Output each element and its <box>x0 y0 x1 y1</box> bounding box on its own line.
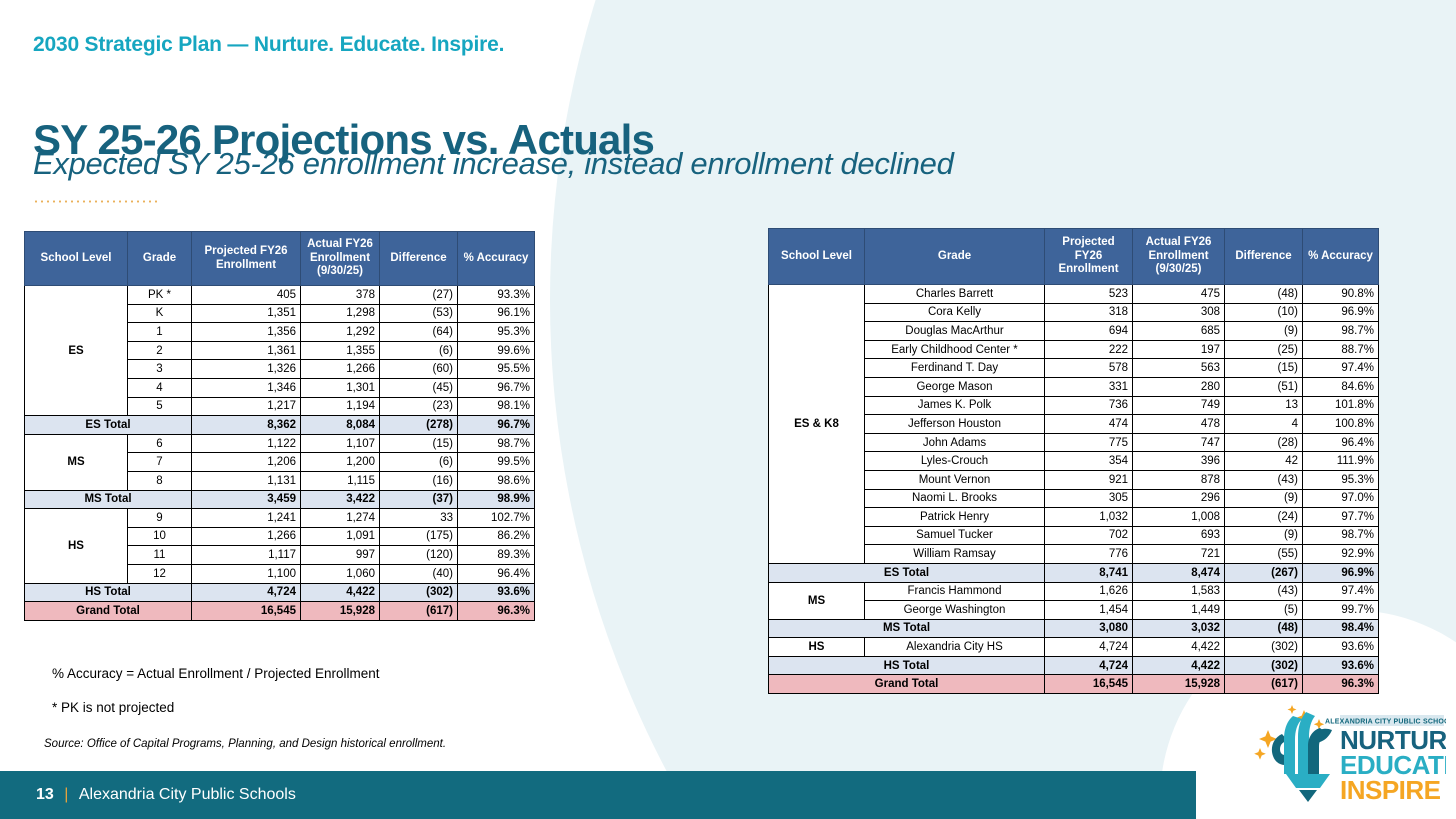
subtotal-difference: (302) <box>1225 656 1303 675</box>
actual-cell: 478 <box>1133 415 1225 434</box>
accuracy-cell: 96.1% <box>458 304 535 323</box>
acps-nurture-educate-inspire-logo: ALEXANDRIA CITY PUBLIC SCHOOLS NURTURE E… <box>1246 700 1446 808</box>
pencil-leaf-mark <box>1272 712 1332 802</box>
col-difference: Difference <box>380 232 458 286</box>
grand-total-actual: 15,928 <box>301 602 380 621</box>
actual-cell: 308 <box>1133 303 1225 322</box>
projected-cell: 1,241 <box>192 509 301 528</box>
grade-cell: Naomi L. Brooks <box>865 489 1045 508</box>
grade-cell: Samuel Tucker <box>865 526 1045 545</box>
difference-cell: (16) <box>380 471 458 490</box>
actual-cell: 685 <box>1133 322 1225 341</box>
difference-cell: (9) <box>1225 489 1303 508</box>
subtotal-label: ES Total <box>769 563 1045 582</box>
actual-cell: 1,107 <box>301 434 380 453</box>
subtotal-difference: (37) <box>380 490 458 509</box>
col-projected: Projected FY26 Enrollment <box>1045 229 1133 285</box>
subtotal-label: MS Total <box>769 619 1045 638</box>
projected-cell: 1,454 <box>1045 601 1133 620</box>
actual-cell: 1,091 <box>301 527 380 546</box>
strategic-plan-eyebrow: 2030 Strategic Plan — Nurture. Educate. … <box>33 33 504 57</box>
projected-cell: 354 <box>1045 452 1133 471</box>
actual-cell: 1,301 <box>301 378 380 397</box>
col-grade: Grade <box>865 229 1045 285</box>
difference-cell: (25) <box>1225 340 1303 359</box>
logo-line-inspire: INSPIRE <box>1340 775 1441 805</box>
projected-cell: 578 <box>1045 359 1133 378</box>
level-cell: HS <box>25 509 128 583</box>
col-projected: Projected FY26 Enrollment <box>192 232 301 286</box>
subtotal-projected: 4,724 <box>192 583 301 602</box>
actual-cell: 749 <box>1133 396 1225 415</box>
projected-cell: 1,326 <box>192 360 301 379</box>
difference-cell: (6) <box>380 453 458 472</box>
difference-cell: (10) <box>1225 303 1303 322</box>
actual-cell: 378 <box>301 286 380 305</box>
subtotal-actual: 8,084 <box>301 416 380 435</box>
grand-total-difference: (617) <box>1225 675 1303 694</box>
subtotal-actual: 4,422 <box>301 583 380 602</box>
accuracy-cell: 89.3% <box>458 546 535 565</box>
projected-cell: 1,131 <box>192 471 301 490</box>
col-school-level: School Level <box>769 229 865 285</box>
projected-cell: 523 <box>1045 285 1133 304</box>
difference-cell: (48) <box>1225 285 1303 304</box>
difference-cell: (6) <box>380 341 458 360</box>
projected-cell: 1,266 <box>192 527 301 546</box>
level-cell: MS <box>769 582 865 619</box>
grand-total-row: Grand Total16,54515,928(617)96.3% <box>769 675 1379 694</box>
grade-cell: George Washington <box>865 601 1045 620</box>
subtotal-difference: (302) <box>380 583 458 602</box>
grade-cell: 8 <box>128 471 192 490</box>
subtotal-label: ES Total <box>25 416 192 435</box>
accuracy-cell: 111.9% <box>1303 452 1379 471</box>
projected-cell: 694 <box>1045 322 1133 341</box>
col-difference: Difference <box>1225 229 1303 285</box>
difference-cell: (5) <box>1225 601 1303 620</box>
subtotal-actual: 4,422 <box>1133 656 1225 675</box>
actual-cell: 1,449 <box>1133 601 1225 620</box>
actual-cell: 1,583 <box>1133 582 1225 601</box>
grade-cell: 7 <box>128 453 192 472</box>
accuracy-cell: 93.3% <box>458 286 535 305</box>
subtotal-label: MS Total <box>25 490 192 509</box>
accuracy-cell: 96.7% <box>458 378 535 397</box>
projected-cell: 1,100 <box>192 564 301 583</box>
subtotal-difference: (48) <box>1225 619 1303 638</box>
actual-cell: 296 <box>1133 489 1225 508</box>
accuracy-cell: 93.6% <box>1303 638 1379 657</box>
grand-total-label: Grand Total <box>25 602 192 621</box>
grade-cell: 5 <box>128 397 192 416</box>
difference-cell: (43) <box>1225 582 1303 601</box>
difference-cell: 4 <box>1225 415 1303 434</box>
accuracy-cell: 99.5% <box>458 453 535 472</box>
level-cell: HS <box>769 638 865 657</box>
projected-cell: 1,626 <box>1045 582 1133 601</box>
difference-cell: (15) <box>380 434 458 453</box>
grade-cell: James K. Polk <box>865 396 1045 415</box>
subtotal-row: MS Total3,4593,422(37)98.9% <box>25 490 535 509</box>
grade-cell: Francis Hammond <box>865 582 1045 601</box>
projected-cell: 305 <box>1045 489 1133 508</box>
actual-cell: 4,422 <box>1133 638 1225 657</box>
accuracy-cell: 101.8% <box>1303 396 1379 415</box>
grade-cell: 11 <box>128 546 192 565</box>
grade-cell: Douglas MacArthur <box>865 322 1045 341</box>
col-accuracy: % Accuracy <box>458 232 535 286</box>
subtotal-difference: (267) <box>1225 563 1303 582</box>
table-row: HSAlexandria City HS4,7244,422(302)93.6% <box>769 638 1379 657</box>
accuracy-cell: 98.7% <box>1303 322 1379 341</box>
projected-cell: 331 <box>1045 377 1133 396</box>
difference-cell: (120) <box>380 546 458 565</box>
table-header-row: School Level Grade Projected FY26 Enroll… <box>25 232 535 286</box>
actual-cell: 878 <box>1133 470 1225 489</box>
grade-cell: K <box>128 304 192 323</box>
actual-cell: 563 <box>1133 359 1225 378</box>
actual-cell: 1,200 <box>301 453 380 472</box>
subtotal-accuracy: 98.9% <box>458 490 535 509</box>
actual-cell: 747 <box>1133 433 1225 452</box>
projected-cell: 405 <box>192 286 301 305</box>
subtotal-row: HS Total4,7244,422(302)93.6% <box>25 583 535 602</box>
grand-total-row: Grand Total16,54515,928(617)96.3% <box>25 602 535 621</box>
difference-cell: (28) <box>1225 433 1303 452</box>
subtotal-label: HS Total <box>25 583 192 602</box>
subtotal-difference: (278) <box>380 416 458 435</box>
table-row: ESPK *405378(27)93.3% <box>25 286 535 305</box>
difference-cell: 33 <box>380 509 458 528</box>
actual-cell: 721 <box>1133 545 1225 564</box>
subtotal-projected: 4,724 <box>1045 656 1133 675</box>
actual-cell: 280 <box>1133 377 1225 396</box>
table-right-body: ES & K8Charles Barrett523475(48)90.8%Cor… <box>769 285 1379 694</box>
projected-cell: 1,032 <box>1045 508 1133 527</box>
projected-cell: 736 <box>1045 396 1133 415</box>
page-number: 13 <box>36 786 54 803</box>
accuracy-cell: 92.9% <box>1303 545 1379 564</box>
subtotal-actual: 8,474 <box>1133 563 1225 582</box>
col-grade: Grade <box>128 232 192 286</box>
difference-cell: (27) <box>380 286 458 305</box>
difference-cell: (60) <box>380 360 458 379</box>
difference-cell: (51) <box>1225 377 1303 396</box>
actual-cell: 1,355 <box>301 341 380 360</box>
actual-cell: 997 <box>301 546 380 565</box>
table-left-body: ESPK *405378(27)93.3%K1,3511,298(53)96.1… <box>25 286 535 621</box>
grade-cell: Lyles-Crouch <box>865 452 1045 471</box>
difference-cell: (23) <box>380 397 458 416</box>
grade-cell: 4 <box>128 378 192 397</box>
col-accuracy: % Accuracy <box>1303 229 1379 285</box>
grade-cell: 10 <box>128 527 192 546</box>
subtotal-accuracy: 93.6% <box>458 583 535 602</box>
accuracy-cell: 86.2% <box>458 527 535 546</box>
actual-cell: 1,266 <box>301 360 380 379</box>
actual-cell: 475 <box>1133 285 1225 304</box>
grade-cell: George Mason <box>865 377 1045 396</box>
grade-cell: PK * <box>128 286 192 305</box>
actual-cell: 1,292 <box>301 323 380 342</box>
projected-cell: 474 <box>1045 415 1133 434</box>
subtotal-accuracy: 96.7% <box>458 416 535 435</box>
difference-cell: (45) <box>380 378 458 397</box>
difference-cell: (175) <box>380 527 458 546</box>
accuracy-cell: 98.6% <box>458 471 535 490</box>
accuracy-cell: 98.1% <box>458 397 535 416</box>
projections-by-school-table: School Level Grade Projected FY26 Enroll… <box>768 228 1379 694</box>
accuracy-cell: 99.6% <box>458 341 535 360</box>
grade-cell: 2 <box>128 341 192 360</box>
grade-cell: John Adams <box>865 433 1045 452</box>
accuracy-cell: 95.3% <box>458 323 535 342</box>
projected-cell: 776 <box>1045 545 1133 564</box>
subtotal-row: ES Total8,3628,084(278)96.7% <box>25 416 535 435</box>
grade-cell: Alexandria City HS <box>865 638 1045 657</box>
dotted-rule-decoration <box>33 200 161 203</box>
difference-cell: (24) <box>1225 508 1303 527</box>
actual-cell: 1,194 <box>301 397 380 416</box>
grade-cell: William Ramsay <box>865 545 1045 564</box>
actual-cell: 1,115 <box>301 471 380 490</box>
difference-cell: (64) <box>380 323 458 342</box>
difference-cell: (9) <box>1225 322 1303 341</box>
subtotal-accuracy: 96.9% <box>1303 563 1379 582</box>
accuracy-cell: 97.4% <box>1303 582 1379 601</box>
grade-cell: Charles Barrett <box>865 285 1045 304</box>
difference-cell: (43) <box>1225 470 1303 489</box>
difference-cell: (9) <box>1225 526 1303 545</box>
projections-by-grade-table: School Level Grade Projected FY26 Enroll… <box>24 231 535 621</box>
difference-cell: (15) <box>1225 359 1303 378</box>
difference-cell: (302) <box>1225 638 1303 657</box>
subtotal-row: MS Total3,0803,032(48)98.4% <box>769 619 1379 638</box>
accuracy-cell: 84.6% <box>1303 377 1379 396</box>
difference-cell: 13 <box>1225 396 1303 415</box>
pk-footnote: * PK is not projected <box>52 700 174 715</box>
accuracy-cell: 96.9% <box>1303 303 1379 322</box>
col-school-level: School Level <box>25 232 128 286</box>
subtotal-projected: 8,362 <box>192 416 301 435</box>
subtotal-projected: 3,080 <box>1045 619 1133 638</box>
grade-cell: 3 <box>128 360 192 379</box>
grand-total-accuracy: 96.3% <box>1303 675 1379 694</box>
organization-name: Alexandria City Public Schools <box>79 786 296 803</box>
subtotal-row: HS Total4,7244,422(302)93.6% <box>769 656 1379 675</box>
table-row: MSFrancis Hammond1,6261,583(43)97.4% <box>769 582 1379 601</box>
level-cell: ES & K8 <box>769 285 865 564</box>
projected-cell: 222 <box>1045 340 1133 359</box>
grade-cell: Jefferson Houston <box>865 415 1045 434</box>
subtotal-projected: 8,741 <box>1045 563 1133 582</box>
accuracy-formula-note: % Accuracy = Actual Enrollment / Project… <box>52 666 380 681</box>
grand-total-label: Grand Total <box>769 675 1045 694</box>
accuracy-cell: 98.7% <box>1303 526 1379 545</box>
subtotal-accuracy: 93.6% <box>1303 656 1379 675</box>
projected-cell: 1,217 <box>192 397 301 416</box>
actual-cell: 1,274 <box>301 509 380 528</box>
col-actual: Actual FY26 Enrollment (9/30/25) <box>301 232 380 286</box>
grand-total-accuracy: 96.3% <box>458 602 535 621</box>
grade-cell: Cora Kelly <box>865 303 1045 322</box>
actual-cell: 197 <box>1133 340 1225 359</box>
subtotal-row: ES Total8,7418,474(267)96.9% <box>769 563 1379 582</box>
accuracy-cell: 90.8% <box>1303 285 1379 304</box>
level-cell: MS <box>25 434 128 490</box>
grade-cell: 9 <box>128 509 192 528</box>
page-subtitle: Expected SY 25-26 enrollment increase, i… <box>33 146 954 182</box>
table-row: HS91,2411,27433102.7% <box>25 509 535 528</box>
level-cell: ES <box>25 286 128 416</box>
grade-cell: 1 <box>128 323 192 342</box>
grand-total-difference: (617) <box>380 602 458 621</box>
difference-cell: 42 <box>1225 452 1303 471</box>
grand-total-actual: 15,928 <box>1133 675 1225 694</box>
accuracy-cell: 88.7% <box>1303 340 1379 359</box>
grade-cell: 12 <box>128 564 192 583</box>
accuracy-cell: 97.0% <box>1303 489 1379 508</box>
projected-cell: 1,117 <box>192 546 301 565</box>
accuracy-cell: 95.5% <box>458 360 535 379</box>
projected-cell: 1,346 <box>192 378 301 397</box>
subtotal-label: HS Total <box>769 656 1045 675</box>
accuracy-cell: 99.7% <box>1303 601 1379 620</box>
accuracy-cell: 97.7% <box>1303 508 1379 527</box>
grade-cell: Mount Vernon <box>865 470 1045 489</box>
difference-cell: (40) <box>380 564 458 583</box>
accuracy-cell: 96.4% <box>458 564 535 583</box>
grade-cell: Ferdinand T. Day <box>865 359 1045 378</box>
difference-cell: (53) <box>380 304 458 323</box>
accuracy-cell: 102.7% <box>458 509 535 528</box>
projected-cell: 1,361 <box>192 341 301 360</box>
table-header-row: School Level Grade Projected FY26 Enroll… <box>769 229 1379 285</box>
projected-cell: 1,122 <box>192 434 301 453</box>
subtotal-accuracy: 98.4% <box>1303 619 1379 638</box>
projected-cell: 1,356 <box>192 323 301 342</box>
grand-total-projected: 16,545 <box>192 602 301 621</box>
actual-cell: 1,060 <box>301 564 380 583</box>
projected-cell: 921 <box>1045 470 1133 489</box>
footer-text: 13 | Alexandria City Public Schools <box>36 786 296 804</box>
projected-cell: 702 <box>1045 526 1133 545</box>
grade-cell: Early Childhood Center * <box>865 340 1045 359</box>
accuracy-cell: 97.4% <box>1303 359 1379 378</box>
actual-cell: 693 <box>1133 526 1225 545</box>
grade-cell: 6 <box>128 434 192 453</box>
projected-cell: 318 <box>1045 303 1133 322</box>
accuracy-cell: 100.8% <box>1303 415 1379 434</box>
accuracy-cell: 96.4% <box>1303 433 1379 452</box>
grade-cell: Patrick Henry <box>865 508 1045 527</box>
accuracy-cell: 95.3% <box>1303 470 1379 489</box>
projected-cell: 1,206 <box>192 453 301 472</box>
projected-cell: 1,351 <box>192 304 301 323</box>
projected-cell: 4,724 <box>1045 638 1133 657</box>
actual-cell: 396 <box>1133 452 1225 471</box>
subtotal-actual: 3,032 <box>1133 619 1225 638</box>
actual-cell: 1,008 <box>1133 508 1225 527</box>
projected-cell: 775 <box>1045 433 1133 452</box>
grand-total-projected: 16,545 <box>1045 675 1133 694</box>
accuracy-cell: 98.7% <box>458 434 535 453</box>
table-row: ES & K8Charles Barrett523475(48)90.8% <box>769 285 1379 304</box>
table-row: MS61,1221,107(15)98.7% <box>25 434 535 453</box>
actual-cell: 1,298 <box>301 304 380 323</box>
footer-separator: | <box>64 786 68 803</box>
source-note: Source: Office of Capital Programs, Plan… <box>44 738 446 750</box>
subtotal-actual: 3,422 <box>301 490 380 509</box>
subtotal-projected: 3,459 <box>192 490 301 509</box>
col-actual: Actual FY26 Enrollment (9/30/25) <box>1133 229 1225 285</box>
difference-cell: (55) <box>1225 545 1303 564</box>
